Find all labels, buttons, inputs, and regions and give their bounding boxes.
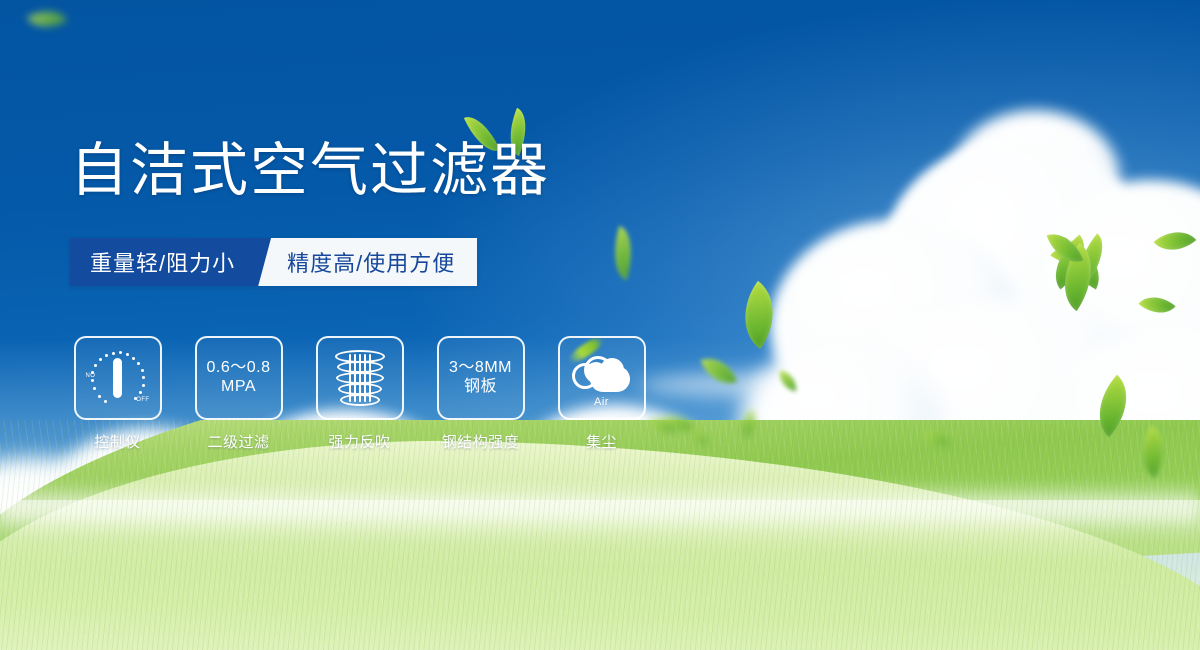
feature-label: 强力反吹 bbox=[328, 431, 390, 452]
air-label: Air bbox=[570, 396, 634, 408]
feature-icon-box: NO OFF bbox=[74, 336, 162, 420]
subtitle-divider bbox=[253, 238, 279, 286]
subtitle-bar: 重量轻/阻力小 精度高/使用方便 bbox=[70, 238, 477, 286]
air-cloud-icon: Air bbox=[570, 350, 634, 406]
dial-gauge-icon: NO OFF bbox=[87, 349, 149, 407]
subtitle-left: 重量轻/阻力小 bbox=[70, 238, 253, 286]
gauge-label-no: NO bbox=[86, 373, 96, 379]
feature-item-filtration[interactable]: 0.6～0.8 MPA 二级过滤 bbox=[191, 336, 286, 452]
feature-label: 控制仪 bbox=[94, 431, 141, 452]
feature-label: 钢结构强度 bbox=[442, 431, 520, 452]
filter-coil-icon bbox=[333, 348, 387, 408]
feature-item-dust[interactable]: Air 集尘 bbox=[554, 336, 649, 452]
feature-icon-box: 0.6～0.8 MPA bbox=[195, 336, 283, 420]
grass-texture bbox=[0, 420, 1200, 650]
gauge-label-off: OFF bbox=[136, 397, 149, 403]
feature-list: NO OFF 控制仪 0.6～0.8 MPA 二级过滤 bbox=[70, 336, 649, 452]
grass-field bbox=[0, 420, 1200, 650]
feature-label: 二级过滤 bbox=[207, 431, 269, 452]
steel-plate-text: 钢板 bbox=[464, 378, 497, 397]
steel-thickness-text: 3～8MM bbox=[449, 359, 512, 378]
subtitle-right: 精度高/使用方便 bbox=[279, 238, 477, 286]
feature-label: 集尘 bbox=[586, 431, 617, 452]
feature-icon-box: 3～8MM 钢板 bbox=[437, 336, 525, 420]
gauge-needle bbox=[113, 358, 122, 398]
feature-icon-box bbox=[316, 336, 404, 420]
page-title: 自洁式空气过滤器 bbox=[70, 142, 550, 200]
cloud-body bbox=[586, 362, 606, 382]
leaf-icon bbox=[649, 417, 677, 436]
pressure-unit-text: MPA bbox=[221, 378, 256, 397]
leaf-icon bbox=[776, 370, 799, 392]
feature-item-steel[interactable]: 3～8MM 钢板 钢结构强度 bbox=[433, 336, 528, 452]
feature-item-blowback[interactable]: 强力反吹 bbox=[312, 336, 407, 452]
feature-icon-box: Air bbox=[558, 336, 646, 420]
feature-item-control[interactable]: NO OFF 控制仪 bbox=[70, 336, 165, 452]
product-banner: 自洁式空气过滤器 重量轻/阻力小 精度高/使用方便 bbox=[0, 0, 1200, 650]
pressure-text-icon: 0.6～0.8 bbox=[207, 359, 271, 378]
